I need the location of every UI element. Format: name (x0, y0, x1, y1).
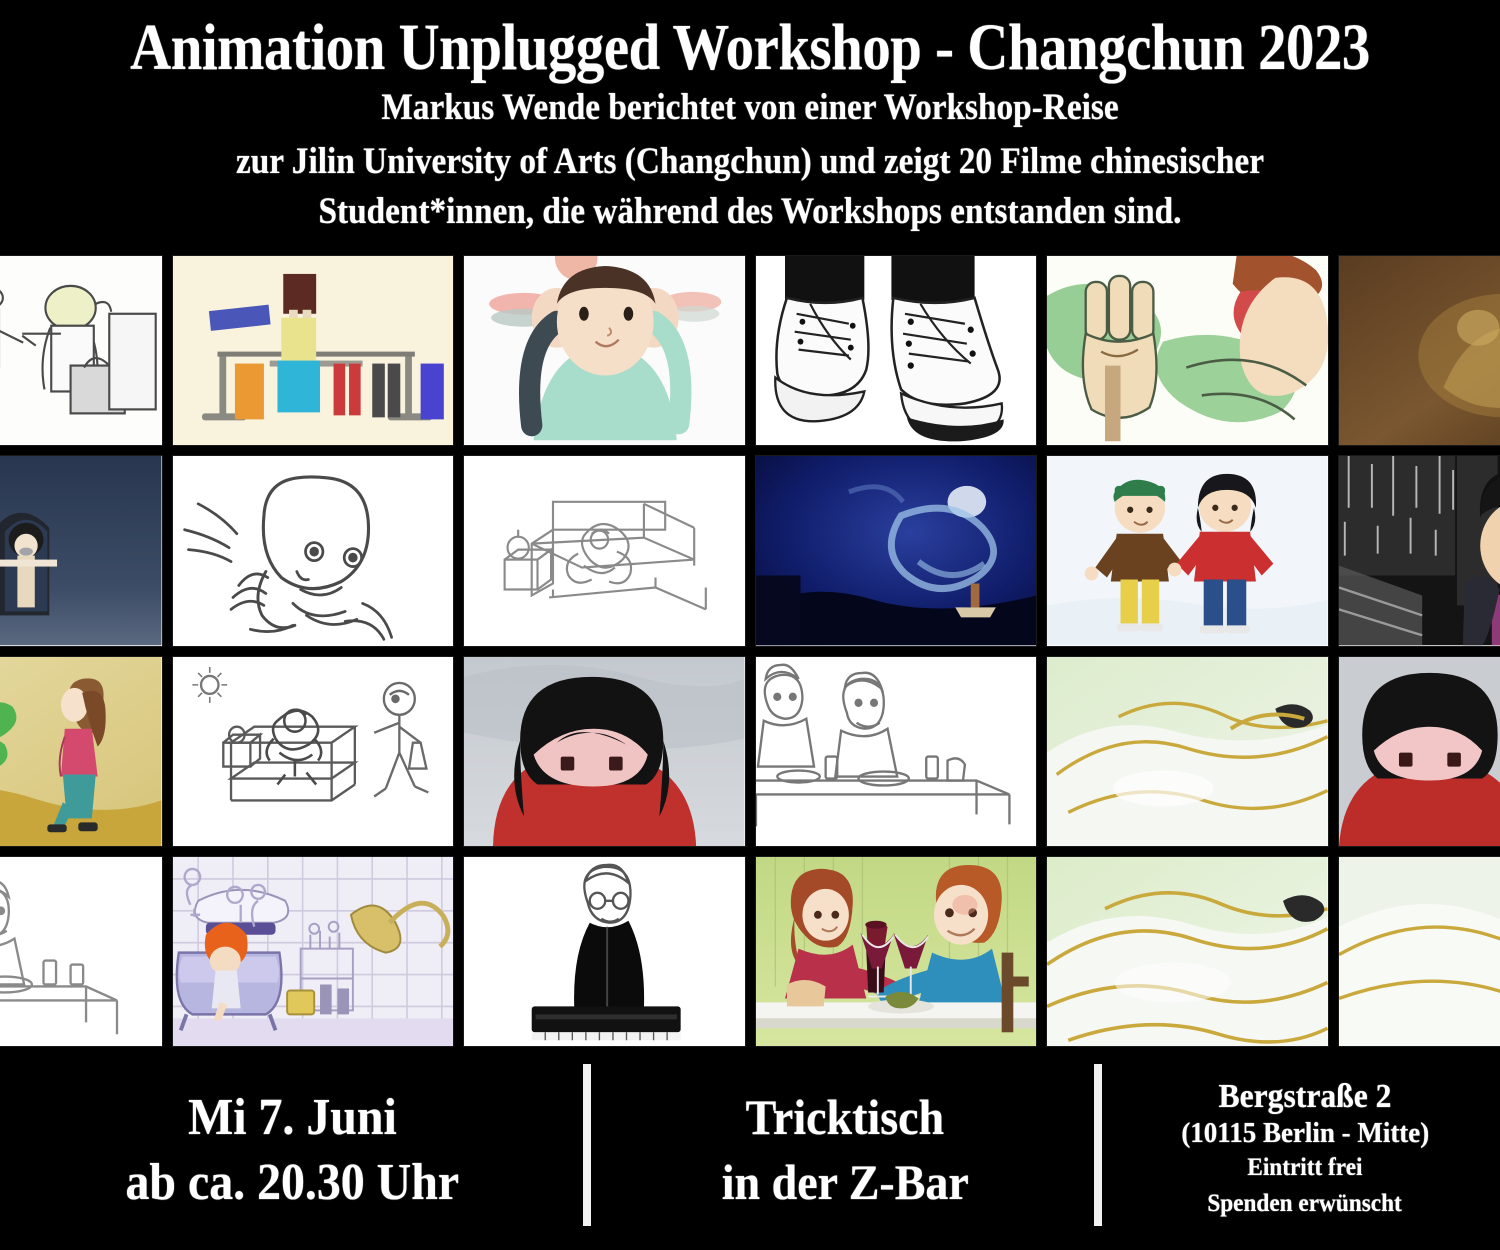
footer-divider-2 (1094, 1064, 1102, 1226)
poster-title: Animation Unplugged Workshop - Changchun… (45, 14, 1455, 81)
address-street: Bergstraße 2 (1218, 1078, 1391, 1116)
grid-cell-sprouts-and-walking-girl (0, 656, 163, 847)
footer-venue-column: Tricktisch in der Z-Bar (600, 1050, 1090, 1250)
grid-cell-couple-dinner-wine (755, 856, 1038, 1047)
grid-cell-bed-and-walking-figure (172, 656, 455, 847)
poster-subtitle-line-1: Markus Wende berichtet von einer Worksho… (12, 89, 1488, 128)
grid-cell-black-hair-girl-red-shirt (463, 656, 746, 847)
grid-cell-filmstill-edge (1338, 856, 1500, 1047)
grid-cell-reclining-figure-yellow (1046, 856, 1329, 1047)
grid-cell-sneakers-closeup (755, 255, 1038, 446)
grid-cell-brown-sepia-figure (1338, 255, 1500, 446)
venue-location: in der Z-Bar (721, 1150, 968, 1215)
footer-date-column: Mi 7. Juni ab ca. 20.30 Uhr (0, 1050, 585, 1250)
grid-cell-red-figure-edge (1338, 656, 1500, 847)
grid-cell-two-children-holding-hands (1046, 455, 1329, 646)
venue-name: Tricktisch (746, 1085, 944, 1150)
poster-subtitle-line-2: zur Jilin University of Arts (Changchun)… (12, 138, 1488, 185)
grid-cell-two-figures-line-drawing (0, 255, 163, 446)
grid-cell-reclining-figure-pale (1046, 656, 1329, 847)
grid-cell-drying-laundry-rack (172, 255, 455, 446)
grid-cell-boy-in-rain-alley (1338, 455, 1500, 646)
film-still-grid (0, 252, 1500, 1050)
entry-info: Eintritt frei (1247, 1150, 1362, 1186)
poster-footer: Mi 7. Juni ab ca. 20.30 Uhr Tricktisch i… (0, 1050, 1500, 1250)
footer-address-column: Bergstraße 2 (10115 Berlin - Mitte) Eint… (1110, 1050, 1500, 1250)
event-time: ab ca. 20.30 Uhr (126, 1150, 460, 1215)
grid-cell-girl-in-bathtub (172, 856, 455, 1047)
grid-cell-person-on-bed-sketch (463, 455, 746, 646)
donation-info: Spenden erwünscht (1208, 1186, 1402, 1222)
footer-divider-1 (583, 1064, 591, 1226)
event-poster: Animation Unplugged Workshop - Changchun… (0, 0, 1500, 1250)
grid-cell-desk-scene-sketch (0, 856, 163, 1047)
address-city: (10115 Berlin - Mitte) (1181, 1116, 1429, 1150)
grid-cell-boy-hands-behind-head (463, 255, 746, 446)
poster-header: Animation Unplugged Workshop - Changchun… (0, 0, 1500, 252)
event-date: Mi 7. Juni (188, 1085, 397, 1150)
grid-cell-curly-hair-boy-waving (172, 455, 455, 646)
grid-cell-child-in-lit-doorway (0, 455, 163, 646)
grid-cell-pianist-at-piano (463, 856, 746, 1047)
grid-cell-two-people-at-table (755, 656, 1038, 847)
grid-cell-hand-holding-green-object (1046, 255, 1329, 446)
poster-subtitle-line-3: Student*innen, die während des Workshops… (12, 188, 1488, 235)
grid-cell-blue-night-creature (755, 455, 1038, 646)
